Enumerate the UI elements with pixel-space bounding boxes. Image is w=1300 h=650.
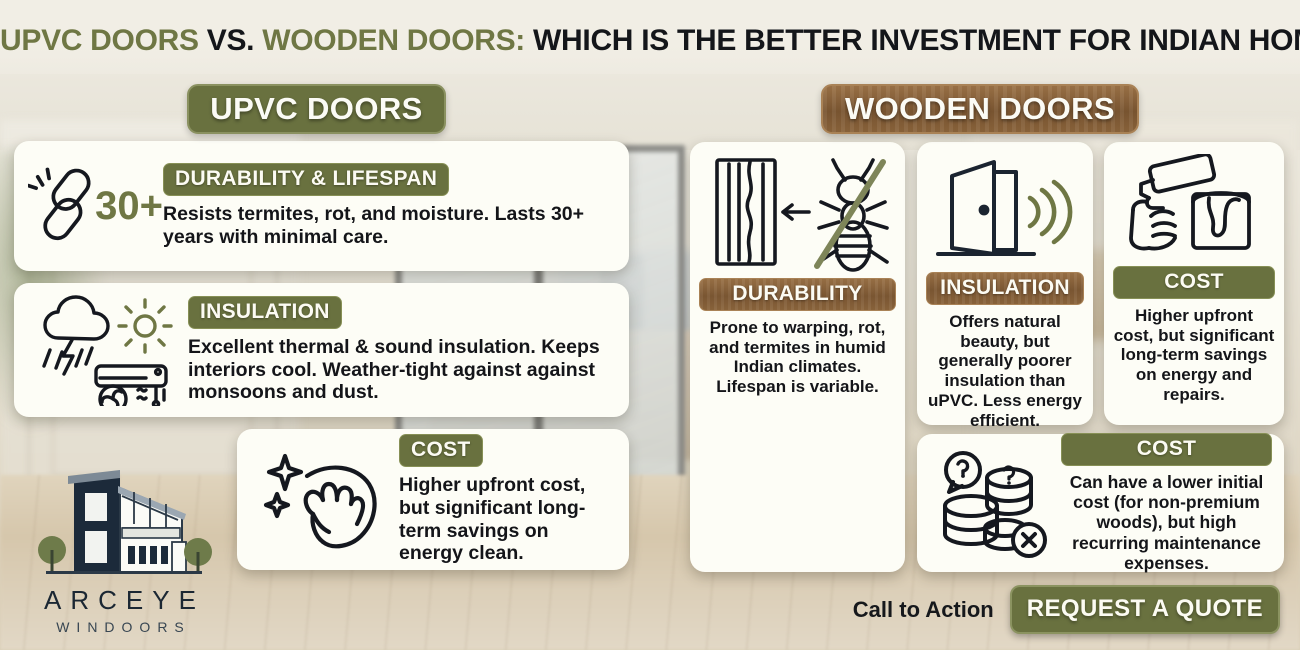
page-title: UPVC DOORS VS. WOODEN DOORS: WHICH IS TH…: [0, 24, 1300, 58]
upvc-cost-desc: Higher upfront cost, but significant lon…: [399, 474, 615, 564]
upvc-card-durability: 30+ DURABILITY & LIFESPAN Resists termit…: [14, 141, 629, 271]
wooden-card-durability: DURABILITY Prone to warping, rot, and te…: [690, 142, 905, 572]
cta-label: Call to Action: [853, 597, 994, 623]
chain-link-icon: 30+: [28, 158, 163, 254]
tag-durability-lifespan: DURABILITY & LIFESPAN: [163, 163, 449, 196]
tag-insulation-wooden: INSULATION: [926, 272, 1084, 305]
house-logo-icon: [22, 468, 218, 578]
title-part-vs: VS.: [207, 24, 263, 57]
tag-insulation: INSULATION: [188, 296, 342, 329]
brand-logo: ARCEYE WINDOORS: [22, 468, 218, 635]
upvc-card-insulation: INSULATION Excellent thermal & sound ins…: [14, 283, 629, 417]
logo-wordmark: ARCEYE: [22, 585, 218, 616]
request-a-quote-button[interactable]: REQUEST A QUOTE: [1010, 585, 1280, 634]
wooden-cost-upfront-desc: Higher upfront cost, but significant lon…: [1113, 306, 1275, 405]
coins-question-icon: [929, 448, 1061, 558]
open-door-soundwave-icon: [930, 154, 1080, 266]
upvc-insulation-desc: Excellent thermal & sound insulation. Ke…: [188, 336, 615, 404]
wooden-insulation-desc: Offers natural beauty, but generally poo…: [926, 312, 1084, 430]
upvc-card-cost: COST Higher upfront cost, but significan…: [237, 429, 629, 570]
cleaning-hand-icon: [251, 444, 399, 556]
title-part-upvc: UPVC DOORS: [0, 24, 207, 57]
column-header-upvc: UPVC DOORS: [187, 84, 446, 134]
call-to-action: Call to Action REQUEST A QUOTE: [853, 585, 1280, 634]
wooden-card-insulation: INSULATION Offers natural beauty, but ge…: [917, 142, 1093, 425]
tag-cost-upvc: COST: [399, 434, 483, 467]
wooden-durability-desc: Prone to warping, rot, and termites in h…: [699, 318, 896, 397]
tag-durability-wooden: DURABILITY: [699, 278, 896, 311]
title-part-question: WHICH IS THE BETTER INVESTMENT FOR INDIA…: [533, 24, 1300, 57]
wooden-card-cost-upfront: COST Higher upfront cost, but significan…: [1104, 142, 1284, 425]
durability-years-badge: 30+: [95, 184, 163, 229]
paint-roller-bucket-icon: [1119, 154, 1269, 260]
wooden-card-cost-maintenance: COST Can have a lower initial cost (for …: [917, 434, 1284, 572]
weather-ac-icon: [28, 294, 188, 406]
wooden-cost-maintenance-desc: Can have a lower initial cost (for non-p…: [1061, 472, 1272, 573]
tag-cost-wooden-maintenance: COST: [1061, 433, 1272, 466]
title-part-wooden: WOODEN DOORS:: [262, 24, 533, 57]
cracked-wood-termite-icon: [705, 154, 890, 272]
column-header-wooden: WOODEN DOORS: [821, 84, 1139, 134]
upvc-durability-desc: Resists termites, rot, and moisture. Las…: [163, 203, 615, 248]
tag-cost-wooden-upfront: COST: [1113, 266, 1275, 299]
logo-subwordmark: WINDOORS: [22, 619, 218, 635]
